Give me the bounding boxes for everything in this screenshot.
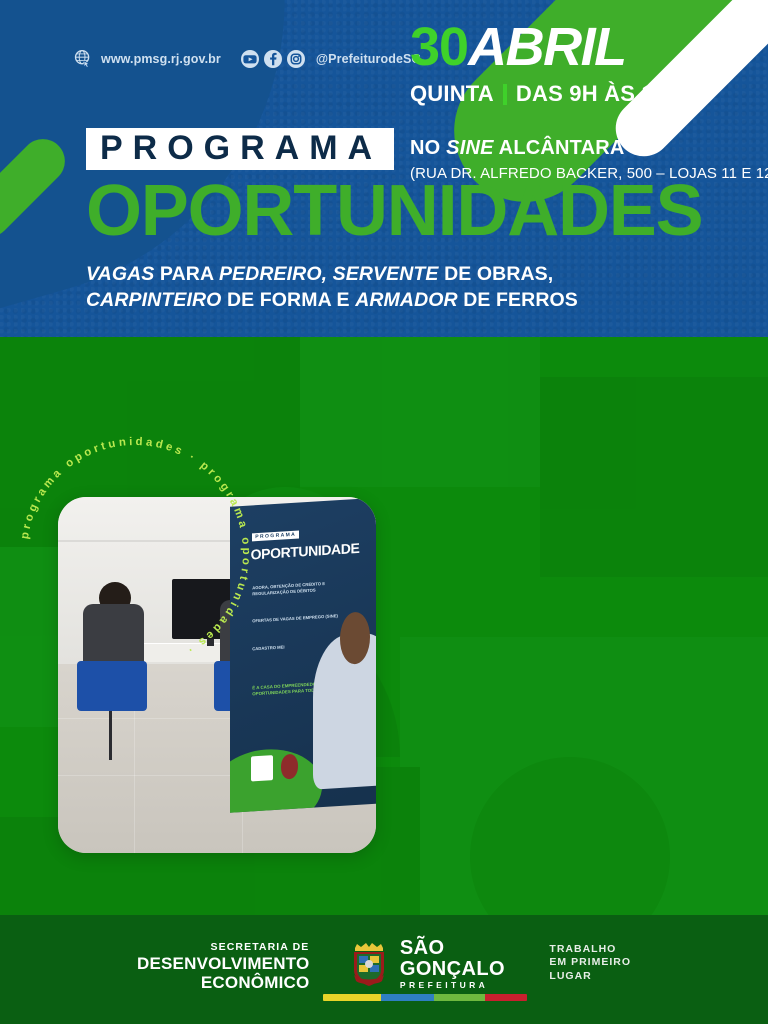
colorbar-blue: [381, 994, 434, 1001]
photo-chair-leg-left: [109, 711, 112, 761]
slogan-line-2: EM PRIMEIRO: [549, 956, 631, 970]
subtitle-para: PARA: [154, 263, 219, 285]
subtitle-line-2: CARPINTEIRO DE FORMA E ARMADOR DE FERROS: [86, 288, 726, 314]
subtitle-forma: DE FORMA E: [221, 289, 355, 311]
event-schedule: QUINTA DAS 9H ÀS 16H: [410, 81, 760, 107]
office-photo: PROGRAMA OPORTUNIDADE AGORA, OBTENÇÃO DE…: [58, 497, 376, 853]
event-weekday: QUINTA: [410, 81, 494, 107]
banner-kicker-text: PROGRAMA: [252, 530, 299, 541]
globe-icon: [72, 48, 94, 70]
banner-sine-logo: [250, 755, 272, 781]
schedule-divider: [503, 84, 507, 105]
program-subtitle: VAGAS PARA PEDREIRO, SERVENTE DE OBRAS, …: [86, 262, 726, 313]
header-contact-bar: www.pmsg.rj.gov.br @Pref: [72, 44, 421, 74]
city-line-1: SÃO: [400, 938, 505, 959]
city-line-3: PREFEITURA: [400, 981, 505, 990]
city-logo-block: SÃO GONÇALO PREFEITURA: [323, 938, 527, 1001]
photo-chair-left: [77, 661, 147, 711]
secretaria-line-3: ECONÔMICO: [137, 973, 309, 992]
event-day: 30: [410, 17, 468, 77]
social-handle[interactable]: @PrefeiturodeSG: [316, 52, 421, 66]
subtitle-ferros: DE FERROS: [458, 289, 578, 311]
colorbar-red: [485, 994, 528, 1001]
coat-of-arms-icon: [346, 939, 392, 989]
footer-bar: SECRETARIA DE DESENVOLVIMENTO ECONÔMICO: [0, 915, 768, 1024]
slogan-block: TRABALHO EM PRIMEIRO LUGAR: [549, 938, 631, 984]
banner-item-1: AGORA, OBTENÇÃO DE CRÉDITO E REGULARIZAÇ…: [252, 579, 347, 597]
program-kicker: PROGRAMA: [86, 128, 394, 170]
website-url[interactable]: www.pmsg.rj.gov.br: [101, 52, 221, 66]
slogan-line-3: LUGAR: [549, 970, 631, 984]
subtitle-armador: ARMADOR: [355, 289, 458, 311]
city-logo-row: SÃO GONÇALO PREFEITURA: [346, 938, 505, 990]
event-photo-card: PROGRAMA OPORTUNIDADE AGORA, OBTENÇÃO DE…: [58, 497, 376, 853]
event-date: 30ABRIL: [410, 22, 760, 73]
city-name: SÃO GONÇALO PREFEITURA: [400, 938, 505, 990]
instagram-icon[interactable]: [287, 50, 305, 68]
colorbar-yellow: [323, 994, 380, 1001]
program-headline: OPORTUNIDADES: [86, 177, 726, 246]
colorbar-green: [434, 994, 485, 1001]
youtube-icon[interactable]: [241, 50, 259, 68]
title-block: PROGRAMA OPORTUNIDADES VAGAS PARA PEDREI…: [86, 128, 726, 314]
footer-logos: SECRETARIA DE DESENVOLVIMENTO ECONÔMICO: [137, 938, 631, 1001]
subtitle-line-1: VAGAS PARA PEDREIRO, SERVENTE DE OBRAS,: [86, 262, 726, 288]
banner-city-logo: [281, 754, 298, 780]
secretaria-line-1: SECRETARIA DE: [137, 942, 309, 954]
banner-arc-decoration: [230, 746, 322, 813]
secretaria-logo: SECRETARIA DE DESENVOLVIMENTO ECONÔMICO: [137, 938, 309, 992]
subtitle-carpinteiro: CARPINTEIRO: [86, 289, 221, 311]
subtitle-roles-1: PEDREIRO, SERVENTE: [219, 263, 439, 285]
event-hours: DAS 9H ÀS 16H: [516, 81, 682, 107]
subtitle-vagas: VAGAS: [86, 263, 154, 285]
banner-item-2: OFERTAS DE VAGAS DE EMPREGO (SINE): [252, 613, 347, 625]
city-line-2: GONÇALO: [400, 959, 505, 980]
photo-rollup-banner: PROGRAMA OPORTUNIDADE AGORA, OBTENÇÃO DE…: [230, 497, 376, 813]
photo-person-left: [83, 604, 143, 668]
slogan-line-1: TRABALHO: [549, 943, 631, 957]
brand-color-bar: [323, 994, 527, 1001]
poster: www.pmsg.rj.gov.br @Pref: [0, 0, 768, 1024]
secretaria-line-2: DESENVOLVIMENTO: [137, 954, 309, 973]
banner-title-text: OPORTUNIDADE: [250, 540, 359, 563]
facebook-icon[interactable]: [264, 50, 282, 68]
social-icons-group: [241, 50, 305, 68]
event-month: ABRIL: [468, 17, 625, 77]
subtitle-obras: DE OBRAS,: [439, 263, 554, 285]
